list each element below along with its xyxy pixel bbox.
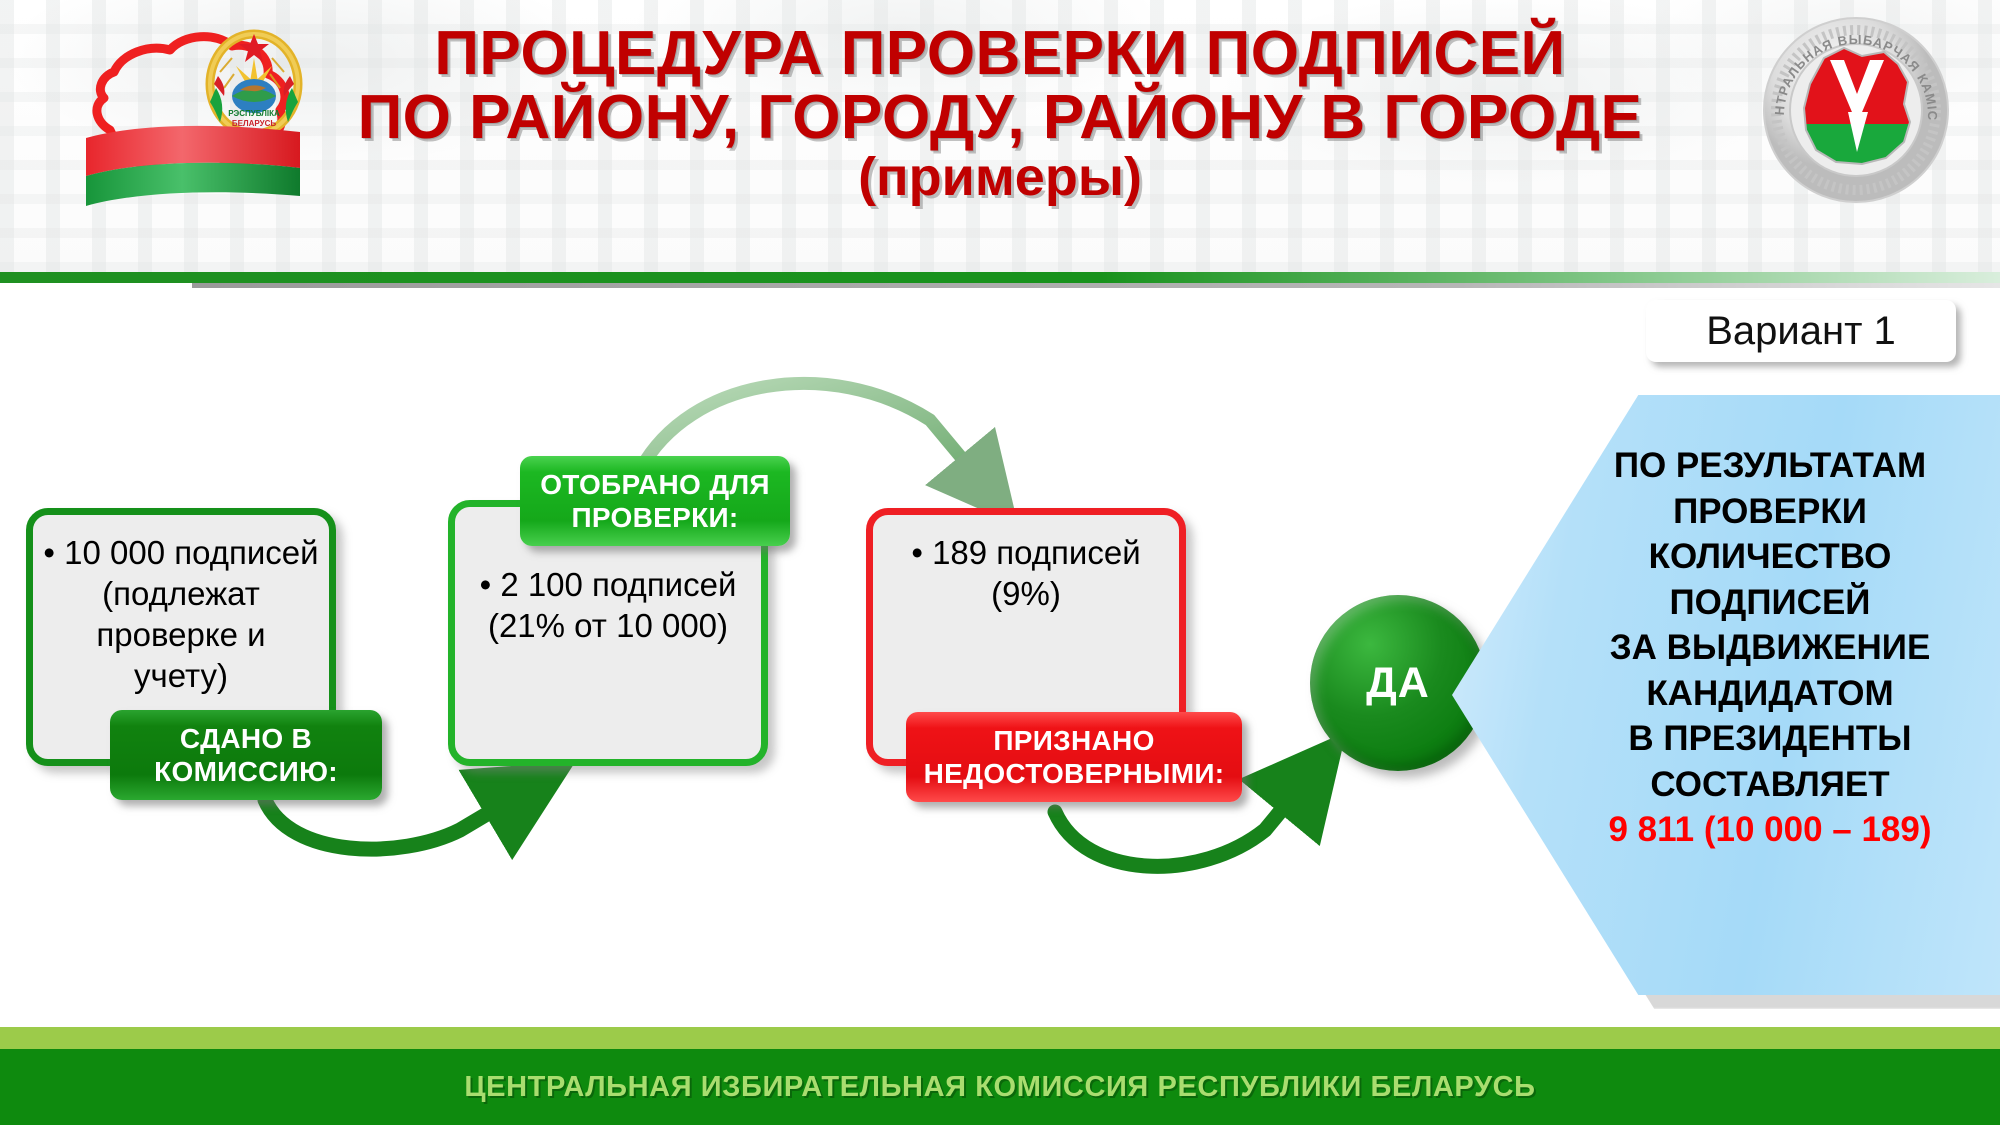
result-panel-text: ПО РЕЗУЛЬТАТАМ ПРОВЕРКИ КОЛИЧЕСТВО ПОДПИ… [1570,443,1970,853]
step-2-text: • 2 100 подписей (21% от 10 000) [455,565,761,647]
step-3-line-2: (9%) [991,575,1061,612]
step-2-ribbon: ОТОБРАНО ДЛЯ ПРОВЕРКИ: [520,456,790,546]
step-2-line-1: 2 100 подписей [500,566,736,603]
step-2-bullet: • [480,566,492,603]
footer-bar: ЦЕНТРАЛЬНАЯ ИЗБИРАТЕЛЬНАЯ КОМИССИЯ РЕСПУ… [0,1049,2000,1125]
variant-badge-label: Вариант 1 [1706,309,1896,354]
step-2-line-2: (21% от 10 000) [488,607,728,644]
step-1-line-3: проверке и [96,616,265,653]
header-divider-grey [192,283,2000,288]
step-1-text: • 10 000 подписей (подлежат проверке и у… [33,533,329,697]
step-1-line-2: (подлежат [102,575,260,612]
result-line-2: ПРОВЕРКИ [1570,489,1970,535]
result-line-7: В ПРЕЗИДЕНТЫ [1570,716,1970,762]
step-2-ribbon-line-1: ОТОБРАНО ДЛЯ [540,469,770,500]
result-line-1: ПО РЕЗУЛЬТАТАМ [1570,443,1970,489]
footer-text: ЦЕНТРАЛЬНАЯ ИЗБИРАТЕЛЬНАЯ КОМИССИЯ РЕСПУ… [464,1071,1535,1104]
svg-text:БЕЛАРУСЬ: БЕЛАРУСЬ [232,119,276,128]
header-divider-green [0,272,2000,283]
belarus-state-emblem-icon: РЭСПУБЛІКА БЕЛАРУСЬ [52,10,322,208]
title-line-3: (примеры) [330,150,1670,206]
step-3-ribbon-line-1: ПРИЗНАНО [993,725,1154,756]
step-1-ribbon: СДАНО В КОМИССИЮ: [110,710,382,800]
title-line-2: ПО РАЙОНУ, ГОРОДУ, РАЙОНУ В ГОРОДЕ [330,86,1670,150]
step-3-ribbon: ПРИЗНАНО НЕДОСТОВЕРНЫМИ: [906,712,1242,802]
step-3-bullet: • [911,534,923,571]
step-1-bullet: • [43,534,55,571]
step-2-ribbon-line-2: ПРОВЕРКИ: [571,502,738,533]
slide-title: ПРОЦЕДУРА ПРОВЕРКИ ПОДПИСЕЙ ПО РАЙОНУ, Г… [330,22,1670,205]
result-panel: ПО РЕЗУЛЬТАТАМ ПРОВЕРКИ КОЛИЧЕСТВО ПОДПИ… [1452,395,2000,995]
result-line-4: ПОДПИСЕЙ [1570,580,1970,626]
result-value: 9 811 (10 000 – 189) [1570,807,1970,853]
central-election-commission-seal-icon: ЦЭНТРАЛЬНАЯ ВЫБАРЧАЯ КАМІСІЯ [1758,12,1954,208]
decision-yes-label: ДА [1366,659,1430,708]
result-line-8: СОСТАВЛЯЕТ [1570,762,1970,808]
step-3-ribbon-line-2: НЕДОСТОВЕРНЫМИ: [924,758,1225,789]
footer-stripe [0,1027,2000,1049]
step-1-ribbon-line-2: КОМИССИЮ: [154,756,338,787]
slide-root: РЭСПУБЛІКА БЕЛАРУСЬ ПРОЦЕДУРА ПРОВЕРК [0,0,2000,1125]
step-1-ribbon-line-1: СДАНО В [180,723,312,754]
step-3-text: • 189 подписей (9%) [873,533,1179,615]
arrow-step1-to-step2 [265,792,524,849]
svg-text:РЭСПУБЛІКА: РЭСПУБЛІКА [228,109,280,118]
step-1-line-1: 10 000 подписей [64,534,318,571]
title-line-1: ПРОЦЕДУРА ПРОВЕРКИ ПОДПИСЕЙ [330,22,1670,86]
result-line-3: КОЛИЧЕСТВО [1570,534,1970,580]
slide-header: РЭСПУБЛІКА БЕЛАРУСЬ ПРОЦЕДУРА ПРОВЕРК [0,0,2000,272]
step-1-line-4: учету) [134,657,228,694]
result-line-5: ЗА ВЫДВИЖЕНИЕ [1570,625,1970,671]
step-3-line-1: 189 подписей [932,534,1141,571]
variant-badge[interactable]: Вариант 1 [1646,300,1956,362]
result-line-6: КАНДИДАТОМ [1570,671,1970,717]
